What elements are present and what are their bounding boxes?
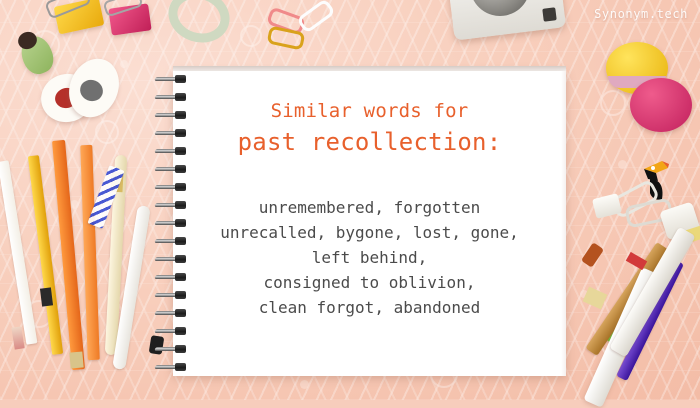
pencil-yellow-ferrule-icon [40,287,53,306]
site-watermark: Synonym.tech [594,7,688,21]
synonym-line: consigned to oblivion, [220,270,519,295]
page-heading-line2: past recollection: [238,127,502,157]
pencil-orange-ferrule-icon [69,351,83,368]
synonym-line: left behind, [220,245,519,270]
synonym-list: unremembered, forgotten unrecalled, bygo… [220,195,519,320]
spiral-notebook: Similar words for past recollection: unr… [155,71,566,376]
page-heading-line1: Similar words for [271,99,469,123]
synonym-line: unrecalled, bygone, lost, gone, [220,220,519,245]
camera-button-icon [542,7,556,21]
synonym-line: clean forgot, abandoned [220,295,519,320]
macaron-pink-icon [630,78,692,132]
page-content: Similar words for past recollection: unr… [173,71,566,376]
synonym-line: unremembered, forgotten [220,195,519,220]
